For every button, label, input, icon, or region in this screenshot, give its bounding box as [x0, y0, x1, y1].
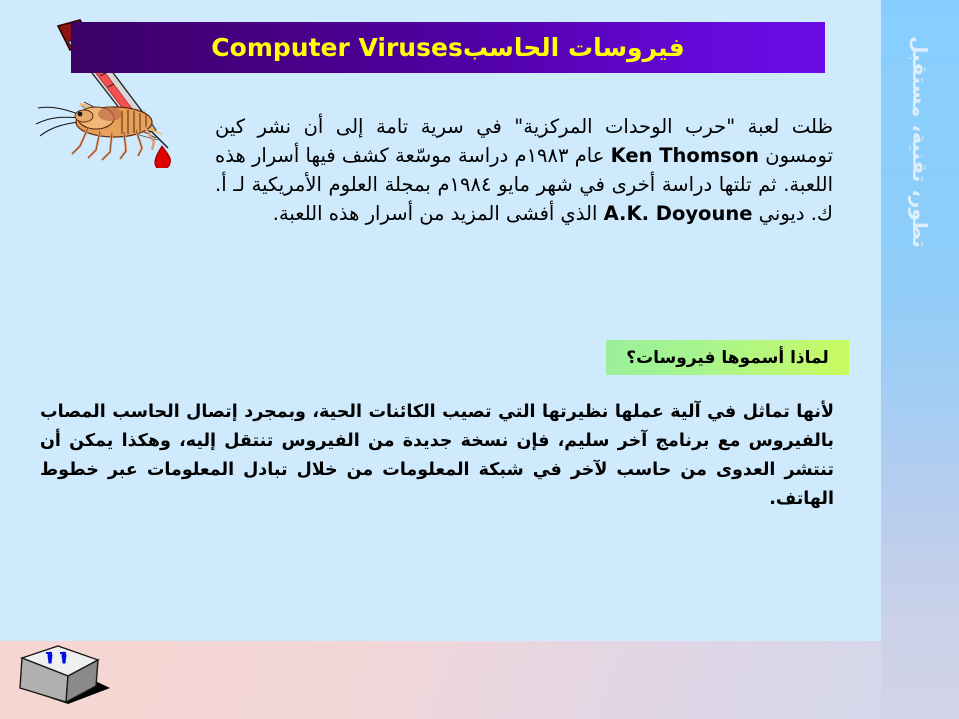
slide-title-bar: فيروسات الحاسبComputer Viruses	[71, 22, 825, 73]
para-top-line4-after: الذي أفشى	[506, 202, 604, 225]
question-highlight-box: لماذا أسموها فيروسات؟	[606, 340, 849, 375]
para-top-line2-after: عام ١٩٨٣م دراسة موسّعة كشف فيها	[306, 144, 611, 167]
name-ken-thomson: Ken Thomson	[611, 141, 759, 170]
para-top-line1: ظلت لعبة "حرب الوحدات المركزية" في سرية …	[215, 115, 833, 138]
slide-title-english: Computer Viruses	[211, 33, 463, 62]
paragraph-answer: لأنها تماثل في آلية عملها نظيرتها التي ت…	[40, 398, 834, 514]
slide-background-main	[0, 0, 881, 641]
para-bottom-line1: لأنها تماثل في آلية عملها نظيرتها التي ت…	[112, 402, 834, 422]
question-text: لماذا أسموها فيروسات؟	[626, 348, 829, 368]
paragraph-history: ظلت لعبة "حرب الوحدات المركزية" في سرية …	[215, 112, 833, 228]
presentation-slide: فيروسات الحاسبComputer Viruses ظلت لعبة …	[0, 0, 959, 719]
slide-title: فيروسات الحاسبComputer Viruses	[211, 33, 684, 62]
name-ak-doyoune: A.K. Doyoune	[604, 199, 753, 228]
slide-background-bottom-strip	[0, 641, 881, 719]
para-top-line2-before: تومسون	[759, 144, 833, 167]
slide-title-arabic: فيروسات الحاسب	[463, 33, 685, 62]
slide-background-sidebar	[881, 0, 959, 719]
para-top-line5: المزيد من أسرار هذه اللعبة.	[273, 202, 500, 225]
